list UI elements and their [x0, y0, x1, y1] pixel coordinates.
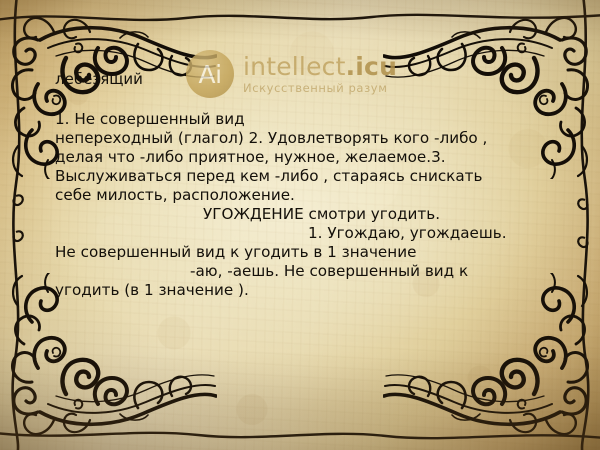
entry-headword: лебезящий — [55, 70, 143, 88]
entry-line-cross-reference: УГОЖДЕНИЕ смотри угодить. — [55, 205, 545, 224]
entry-line: непереходный (глагол) 2. Удовлетворять к… — [55, 129, 545, 148]
entry-line: себе милость, расположение. — [55, 186, 545, 205]
entry-line: 1. Не совершенный вид — [55, 110, 545, 129]
parchment-dictionary-page: Ai intellect.icu Искусственный разум леб… — [0, 0, 600, 450]
entry-line: угодить (в 1 значение ). — [55, 281, 545, 300]
entry-line: Не совершенный вид к угодить в 1 значени… — [55, 243, 545, 262]
entry-definition-body: 1. Не совершенный вид непереходный (глаг… — [55, 110, 545, 300]
dictionary-entry: лебезящий 1. Не совершенный вид неперехо… — [0, 0, 600, 450]
entry-line: Выслуживаться перед кем -либо , стараясь… — [55, 167, 545, 186]
entry-line: делая что -либо приятное, нужное, желаем… — [55, 148, 545, 167]
entry-line-conjugation: 1. Угождаю, угождаешь. — [55, 224, 545, 243]
entry-line-endings: -аю, -аешь. Не совершенный вид к — [55, 262, 545, 281]
